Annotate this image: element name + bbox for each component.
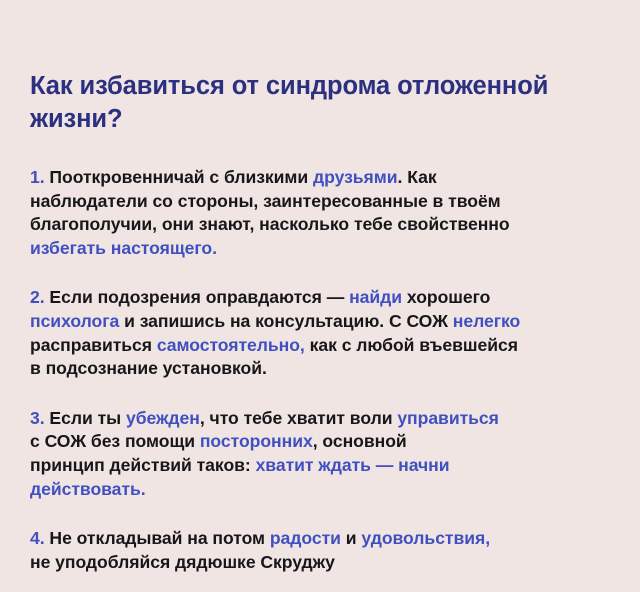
- body-text: Пооткровенничай с близкими: [45, 167, 313, 187]
- body-text: не уподобляйся дядюшке Скруджу: [30, 552, 335, 572]
- list-item: 3. Если ты убежден, что тебе хватит воли…: [30, 407, 622, 501]
- list-item-number: 4.: [30, 528, 45, 548]
- highlighted-phrase: психолога: [30, 311, 119, 331]
- highlighted-phrase: управиться: [397, 408, 499, 428]
- body-text: с СОЖ без помощи: [30, 431, 200, 451]
- highlighted-phrase: найди: [349, 287, 402, 307]
- advice-list: 1. Пооткровенничай с близкими друзьями. …: [30, 166, 622, 574]
- highlighted-phrase: друзьями: [313, 167, 398, 187]
- list-item-number: 2.: [30, 287, 45, 307]
- highlighted-phrase: избегать настоящего: [30, 238, 212, 258]
- list-item: 4. Не откладывай на потом радости и удов…: [30, 527, 622, 574]
- body-text: Если подозрения оправдаются —: [45, 287, 350, 307]
- body-text: Если ты: [45, 408, 126, 428]
- highlighted-phrase: удовольствия,: [361, 528, 490, 548]
- highlighted-phrase: убежден: [126, 408, 200, 428]
- body-text: и: [341, 528, 361, 548]
- list-item: 1. Пооткровенничай с близкими друзьями. …: [30, 166, 622, 260]
- list-item-number: 1.: [30, 167, 45, 187]
- page-title: Как избавиться от синдрома отложенной жи…: [30, 70, 610, 136]
- poster-canvas: Как избавиться от синдрома отложенной жи…: [0, 0, 640, 592]
- body-text: Не откладывай на потом: [45, 528, 270, 548]
- highlighted-phrase: нелегко: [453, 311, 520, 331]
- list-item-number: 3.: [30, 408, 45, 428]
- body-text: хорошего: [402, 287, 490, 307]
- body-text: , что тебе хватит воли: [200, 408, 397, 428]
- body-text: и запишись на консультацию. С СОЖ: [119, 311, 453, 331]
- highlighted-phrase: .: [141, 479, 146, 499]
- highlighted-phrase: самостоятельно,: [157, 335, 305, 355]
- body-text: расправиться: [30, 335, 157, 355]
- highlighted-phrase: .: [212, 238, 217, 258]
- list-item: 2. Если подозрения оправдаются — найди х…: [30, 286, 622, 380]
- highlighted-phrase: радости: [270, 528, 341, 548]
- highlighted-phrase: посторонних: [200, 431, 313, 451]
